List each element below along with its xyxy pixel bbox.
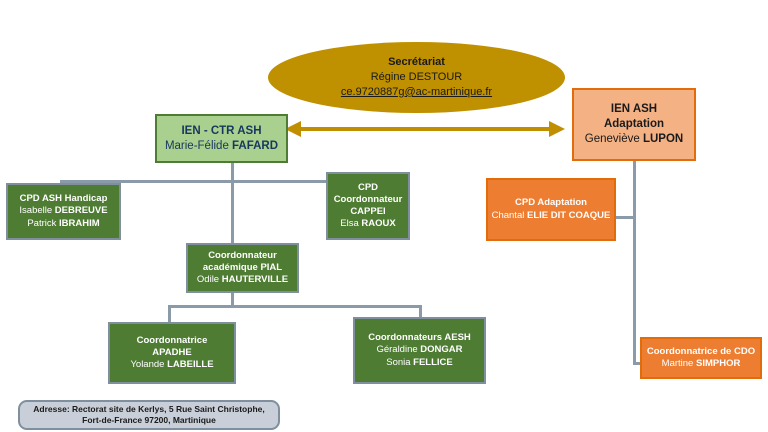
node-cpd-ash-handicap[interactable]: CPD ASH Handicap Isabelle DEBREUVE Patri… <box>6 183 121 240</box>
apadhe-title-1: Coordonnatrice <box>137 335 208 347</box>
secretariat-node: Secrétariat Régine DESTOUR ce.9720887g@a… <box>268 42 565 113</box>
connector-to-cpd-adaptation <box>614 216 636 219</box>
org-chart-canvas: Secrétariat Régine DESTOUR ce.9720887g@a… <box>0 0 768 432</box>
node-coordonnatrice-apadhe[interactable]: Coordonnatrice APADHE Yolande LABEILLE <box>108 322 236 384</box>
ien-ash-adaptation-title-2: Adaptation <box>604 117 664 132</box>
pial-person: Odile HAUTERVILLE <box>197 274 288 286</box>
connector-ctrash-down <box>231 163 234 181</box>
double-headed-arrow-icon <box>285 118 565 140</box>
secretariat-email[interactable]: ce.9720887g@ac-martinique.fr <box>341 85 492 100</box>
cpd-adaptation-person: Chantal ELIE DIT COAQUE <box>492 210 611 222</box>
cpd-ash-handicap-title: CPD ASH Handicap <box>20 193 108 205</box>
connector-bus-level2 <box>168 305 422 308</box>
connector-to-aesh <box>419 305 422 317</box>
aesh-person-2: Sonia FELLICE <box>386 357 453 369</box>
node-coordonnateurs-aesh[interactable]: Coordonnateurs AESH Géraldine DONGAR Son… <box>353 317 486 384</box>
node-ien-ash-adaptation[interactable]: IEN ASH Adaptation Geneviève LUPON <box>572 88 696 161</box>
address-box: Adresse: Rectorat site de Kerlys, 5 Rue … <box>18 400 280 430</box>
cpd-ash-handicap-person-1: Isabelle DEBREUVE <box>19 205 107 217</box>
ien-ctr-ash-title: IEN - CTR ASH <box>181 124 261 139</box>
secretariat-person: Régine DESTOUR <box>371 70 463 85</box>
cpd-cappei-person: Elsa RAOUX <box>340 218 395 230</box>
cpd-cappei-title-3: CAPPEI <box>350 206 385 218</box>
connector-to-apadhe <box>168 305 171 322</box>
secretariat-title: Secrétariat <box>388 55 445 70</box>
cpd-cappei-title-2: Coordonnateur <box>334 194 403 206</box>
aesh-person-1: Géraldine DONGAR <box>376 344 462 356</box>
pial-title-2: académique PIAL <box>203 262 282 274</box>
node-coordonnatrice-cdo[interactable]: Coordonnatrice de CDO Martine SIMPHOR <box>640 337 762 379</box>
node-cpd-adaptation[interactable]: CPD Adaptation Chantal ELIE DIT COAQUE <box>486 178 616 241</box>
ien-ctr-ash-person: Marie-Félide FAFARD <box>165 139 278 154</box>
connector-to-pial <box>231 180 234 243</box>
node-ien-ctr-ash[interactable]: IEN - CTR ASH Marie-Félide FAFARD <box>155 114 288 163</box>
pial-title-1: Coordonnateur <box>208 250 277 262</box>
node-coordonnateur-pial[interactable]: Coordonnateur académique PIAL Odile HAUT… <box>186 243 299 293</box>
node-cpd-coordonnateur-cappei[interactable]: CPD Coordonnateur CAPPEI Elsa RAOUX <box>326 172 410 240</box>
coordonnatrice-cdo-person: Martine SIMPHOR <box>662 358 741 370</box>
cpd-ash-handicap-person-2: Patrick IBRAHIM <box>27 218 99 230</box>
coordonnatrice-cdo-title: Coordonnatrice de CDO <box>647 346 755 358</box>
address-line-1: Adresse: Rectorat site de Kerlys, 5 Rue … <box>33 404 264 415</box>
cpd-cappei-title-1: CPD <box>358 182 378 194</box>
aesh-title: Coordonnateurs AESH <box>368 332 471 344</box>
address-line-2: Fort-de-France 97200, Martinique <box>82 415 216 426</box>
apadhe-person: Yolande LABEILLE <box>130 359 213 371</box>
ien-ash-adaptation-person: Geneviève LUPON <box>585 132 683 147</box>
apadhe-title-2: APADHE <box>152 347 191 359</box>
connector-adaptation-down <box>633 161 636 365</box>
cpd-adaptation-title: CPD Adaptation <box>515 197 587 209</box>
ien-ash-adaptation-title-1: IEN ASH <box>611 102 657 117</box>
